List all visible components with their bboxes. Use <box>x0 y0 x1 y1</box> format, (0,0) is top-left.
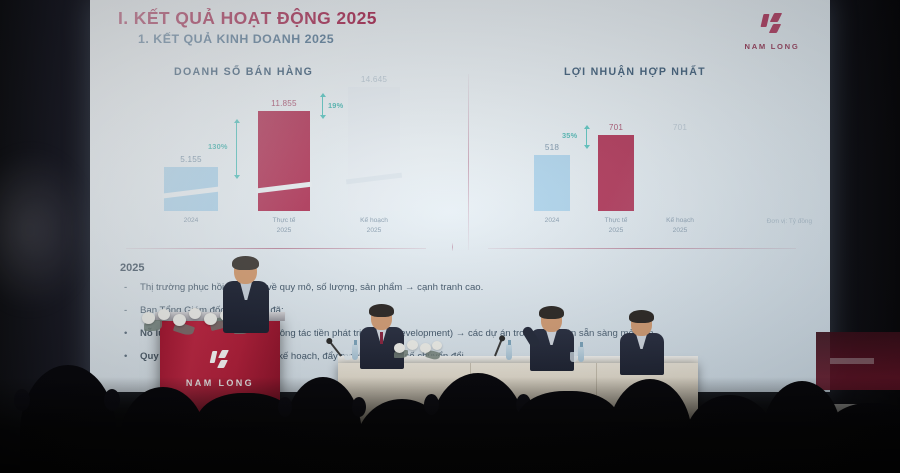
chart-unit-note: Đơn vị: Tỷ đồng <box>767 218 812 225</box>
brand-name: NAM LONG <box>734 42 810 51</box>
bar-value-profit-plan-2025: 701 <box>662 123 698 132</box>
panelist-hair <box>629 310 654 323</box>
bullet-text: Thị trường phục hồi, bùng nổ về quy mô, … <box>140 282 483 293</box>
growth-arrow-sales-19 <box>322 96 323 116</box>
podium-brand-name: NAM LONG <box>160 378 280 388</box>
water-bottle <box>506 344 512 360</box>
panelist-far-right <box>620 312 664 374</box>
xlabel-sales-actual-2025: Thực tế 2025 <box>258 216 310 236</box>
hall-wall-right <box>820 0 900 473</box>
xlabel-line-2: 2025 <box>348 226 400 236</box>
bar-profit-plan-2025: 701 <box>662 135 698 211</box>
table-flower-vase <box>392 338 448 364</box>
chart-sales-title: DOANH SỐ BÁN HÀNG <box>174 66 313 78</box>
xlabel-line-1: Kế hoạch <box>348 216 400 226</box>
xlabel-line-2: 2025 <box>662 226 698 236</box>
growth-label-profit-35: 35% <box>562 131 577 140</box>
panelist-hair <box>369 304 394 317</box>
table-fold-line <box>470 363 471 425</box>
bar-profit-actual-2025: 701 <box>598 135 634 211</box>
xlabel-line-1: Thực tế <box>598 216 634 226</box>
slide-brand-logo: NAM LONG <box>734 11 810 51</box>
bullet-marker: - <box>124 305 127 318</box>
bar-sales-actual-2025: 11.855 <box>258 111 310 211</box>
panelist-tie <box>380 332 383 344</box>
bar-value-sales-2024: 5.155 <box>164 155 218 164</box>
bullet-marker: • <box>124 351 127 364</box>
chart-sales-plot: 5.155 11.855 14.645 <box>130 86 440 211</box>
growth-label-sales-19: 19% <box>328 101 343 110</box>
hall-wall-light-glow <box>0 150 90 310</box>
side-banner <box>816 332 900 390</box>
bullet-marker: - <box>124 282 127 295</box>
xlabel-line: 2024 <box>164 216 218 226</box>
xlabel-profit-actual-2025: Thực tế 2025 <box>598 216 634 236</box>
xlabel-line-2: 2025 <box>258 226 310 236</box>
podium-logo: NAM LONG <box>160 348 280 388</box>
bar-value-sales-actual-2025: 11.855 <box>258 99 310 108</box>
stacked-chair <box>862 408 888 436</box>
bar-value-profit-2024: 518 <box>534 143 570 152</box>
table-fold-line <box>596 363 597 425</box>
growth-arrow-sales-130 <box>236 122 237 176</box>
xlabel-line: 2024 <box>534 216 570 226</box>
chart-profit: LỢI NHUẬN HỢP NHẤT 518 701 <box>490 58 808 248</box>
stacked-chair <box>832 404 858 432</box>
xlabel-line-1: Thực tế <box>258 216 310 226</box>
divider-tick-center <box>452 243 453 251</box>
body-year: 2025 <box>120 262 144 274</box>
divider-under-left-chart <box>126 248 426 249</box>
xlabel-line-2: 2025 <box>598 226 634 236</box>
growth-arrow-profit-35 <box>586 128 587 146</box>
nam-long-shield-icon <box>208 348 232 374</box>
chart-profit-plot: 518 701 701 35% <box>490 86 808 211</box>
panelist-hair <box>539 306 564 319</box>
bar-sales-2024: 5.155 <box>164 167 218 211</box>
bullet-marker: • <box>124 328 127 341</box>
speaker-at-podium <box>223 258 269 330</box>
xlabel-profit-plan-2025: Kế hoạch 2025 <box>662 216 698 236</box>
drinking-glass <box>344 350 351 360</box>
xlabel-sales-2024: 2024 <box>164 216 218 226</box>
chart-profit-title: LỢI NHUẬN HỢP NHẤT <box>564 66 706 78</box>
speaker-hair <box>232 256 259 270</box>
xlabel-line-1: Kế hoạch <box>662 216 698 226</box>
growth-label-sales-130: 130% <box>208 142 228 151</box>
bar-sales-plan-2025: 14.645 <box>348 87 400 211</box>
drinking-glass <box>570 352 577 362</box>
xlabel-profit-2024: 2024 <box>534 216 570 226</box>
water-bottle <box>578 346 584 362</box>
slide-subtitle: 1. KẾT QUẢ KINH DOANH 2025 <box>138 32 334 46</box>
chart-sales: DOANH SỐ BÁN HÀNG 5.155 11.855 <box>130 58 440 248</box>
panelist-right <box>530 308 574 370</box>
slide-title: I. KẾT QUẢ HOẠT ĐỘNG 2025 <box>118 8 377 29</box>
divider-under-right-chart <box>488 248 796 249</box>
nam-long-shield-icon <box>759 11 785 39</box>
charts-vertical-divider <box>468 74 469 250</box>
bar-profit-2024: 518 <box>534 155 570 211</box>
bar-value-profit-actual-2025: 701 <box>598 123 634 132</box>
water-bottle <box>352 344 358 360</box>
xlabel-sales-plan-2025: Kế hoạch 2025 <box>348 216 400 236</box>
screenshot-root: I. KẾT QUẢ HOẠT ĐỘNG 2025 1. KẾT QUẢ KIN… <box>0 0 900 473</box>
charts-area: DOANH SỐ BÁN HÀNG 5.155 11.855 <box>118 58 808 248</box>
bar-value-sales-plan-2025: 14.645 <box>348 75 400 84</box>
